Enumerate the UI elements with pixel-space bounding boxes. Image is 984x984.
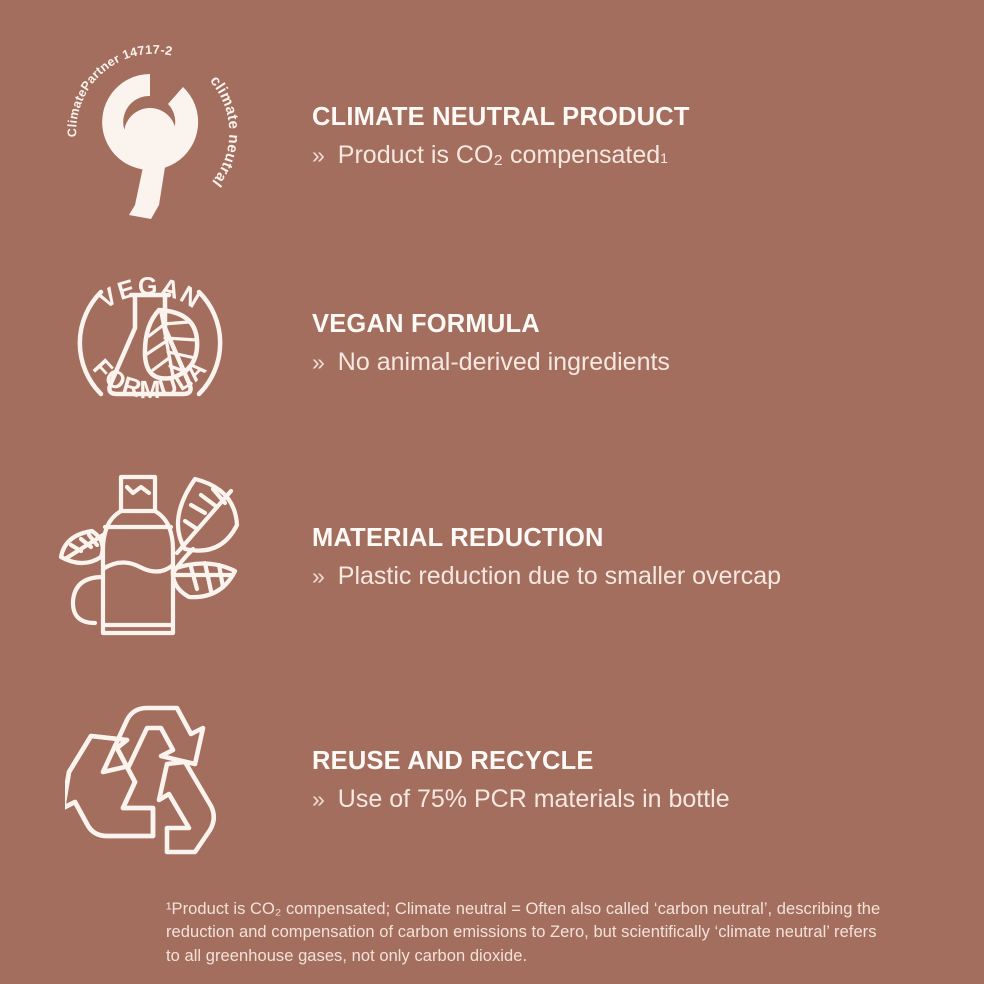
feature-row-climate-neutral: ClimatePartner 14717-2005-1001 climate n…	[0, 44, 984, 224]
footnote-line-3: to all greenhouse gases, not only carbon…	[166, 945, 956, 968]
recycle-arrows-icon	[0, 698, 300, 863]
feature-description: » No animal-derived ingredients	[312, 348, 984, 377]
svg-text:FORMULA: FORMULA	[87, 354, 213, 404]
feature-description: » Product is CO₂ compensated1	[312, 141, 984, 170]
bullet-marker-icon: »	[312, 786, 325, 812]
feature-description-text: Use of 75% PCR materials in bottle	[338, 785, 730, 814]
bullet-marker-icon: »	[312, 142, 325, 168]
svg-text:VEGAN: VEGAN	[94, 272, 207, 314]
feature-description-text: Plastic reduction due to smaller overcap	[338, 562, 781, 591]
bottle-with-leaves-icon	[0, 465, 300, 650]
bullet-marker-icon: »	[312, 349, 325, 375]
bullet-marker-icon: »	[312, 563, 325, 589]
feature-description-text: Product is CO₂ compensated	[338, 141, 660, 170]
svg-text:climate neutral: climate neutral	[206, 72, 242, 190]
feature-text-climate-neutral: CLIMATE NEUTRAL PRODUCT » Product is CO₂…	[300, 99, 984, 170]
feature-row-material-reduction: MATERIAL REDUCTION » Plastic reduction d…	[0, 462, 984, 652]
feature-description: » Plastic reduction due to smaller overc…	[312, 562, 984, 591]
feature-text-material-reduction: MATERIAL REDUCTION » Plastic reduction d…	[300, 524, 984, 591]
footnote-disclaimer: ¹Product is CO₂ compensated; Climate neu…	[166, 898, 956, 968]
feature-row-reuse-recycle: REUSE AND RECYCLE » Use of 75% PCR mater…	[0, 690, 984, 870]
feature-title: REUSE AND RECYCLE	[312, 747, 984, 775]
vegan-formula-flask-icon: VEGAN FORMULA	[0, 248, 300, 438]
feature-title: VEGAN FORMULA	[312, 310, 984, 338]
footnote-line-1: ¹Product is CO₂ compensated; Climate neu…	[166, 898, 956, 921]
feature-description-text: No animal-derived ingredients	[338, 348, 670, 377]
footnote-line-2: reduction and compensation of carbon emi…	[166, 921, 956, 944]
feature-description: » Use of 75% PCR materials in bottle	[312, 785, 984, 814]
feature-row-vegan-formula: VEGAN FORMULA VEGAN FORMULA » No animal-…	[0, 248, 984, 438]
feature-text-reuse-recycle: REUSE AND RECYCLE » Use of 75% PCR mater…	[300, 747, 984, 814]
feature-title: MATERIAL REDUCTION	[312, 524, 984, 552]
sustainability-claims-infographic: ClimatePartner 14717-2005-1001 climate n…	[0, 0, 984, 984]
climate-partner-certificate-icon: ClimatePartner 14717-2005-1001 climate n…	[0, 39, 300, 229]
feature-title: CLIMATE NEUTRAL PRODUCT	[312, 103, 984, 131]
feature-text-vegan-formula: VEGAN FORMULA » No animal-derived ingred…	[300, 310, 984, 377]
